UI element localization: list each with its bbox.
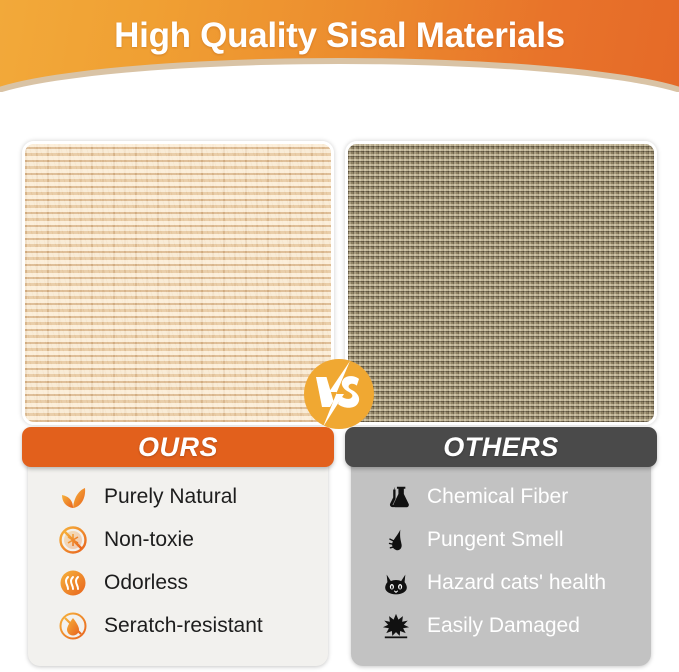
list-item-label: Easily Damaged bbox=[427, 614, 580, 638]
nose-smell-icon bbox=[379, 523, 413, 557]
burlap-weave-texture bbox=[348, 144, 654, 422]
no-toxin-icon bbox=[56, 523, 90, 557]
ours-feature-card: Purely Natural Non-toxie bbox=[28, 445, 328, 666]
burst-icon bbox=[379, 609, 413, 643]
list-item: Pungent Smell bbox=[351, 518, 651, 561]
list-item: Hazard cats' health bbox=[351, 561, 651, 604]
list-item-label: Odorless bbox=[104, 571, 188, 595]
others-ribbon-label: OTHERS bbox=[345, 427, 657, 467]
sisal-weave-texture bbox=[25, 144, 331, 422]
list-item: Chemical Fiber bbox=[351, 475, 651, 518]
leaf-icon bbox=[56, 480, 90, 514]
odor-waves-icon bbox=[56, 566, 90, 600]
page-header: High Quality Sisal Materials bbox=[0, 0, 679, 92]
ours-ribbon-label: OURS bbox=[22, 427, 334, 467]
list-item-label: Pungent Smell bbox=[427, 528, 564, 552]
cat-face-icon bbox=[379, 566, 413, 600]
list-item: Purely Natural bbox=[28, 475, 328, 518]
list-item: Non-toxie bbox=[28, 518, 328, 561]
others-product-photo bbox=[345, 141, 657, 425]
list-item: Easily Damaged bbox=[351, 604, 651, 647]
flask-icon bbox=[379, 480, 413, 514]
vs-badge bbox=[303, 358, 375, 430]
no-water-droplet-icon bbox=[56, 609, 90, 643]
others-feature-card: Chemical Fiber Pungent Smell bbox=[351, 445, 651, 666]
list-item-label: Non-toxie bbox=[104, 528, 194, 552]
list-item-label: Chemical Fiber bbox=[427, 485, 568, 509]
list-item-label: Purely Natural bbox=[104, 485, 237, 509]
ours-column: OURS Purely Natural bbox=[22, 100, 334, 666]
ours-product-photo bbox=[22, 141, 334, 425]
others-column: OTHERS Chemical Fiber bbox=[345, 100, 657, 666]
comparison-section: OURS Purely Natural bbox=[0, 100, 679, 672]
list-item-label: Seratch-resistant bbox=[104, 614, 263, 638]
list-item: Odorless bbox=[28, 561, 328, 604]
page-title: High Quality Sisal Materials bbox=[0, 16, 679, 56]
list-item-label: Hazard cats' health bbox=[427, 571, 606, 595]
list-item: Seratch-resistant bbox=[28, 604, 328, 647]
